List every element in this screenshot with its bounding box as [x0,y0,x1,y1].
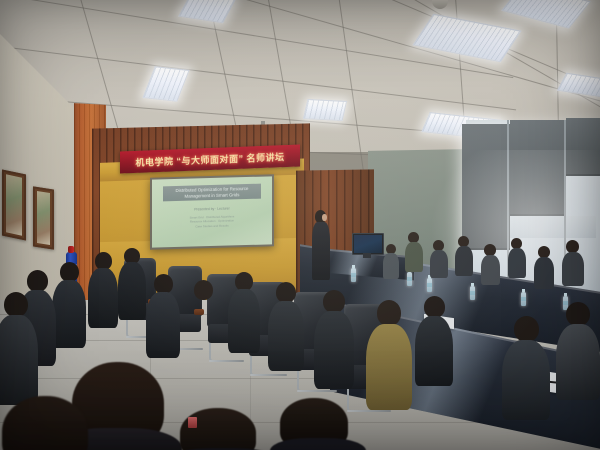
seated-attendee [268,282,304,370]
ceiling-light-panel [412,14,521,63]
seated-attendee [430,240,448,276]
seated-attendee [502,316,550,416]
desktop-monitor [352,233,384,255]
seated-attendee [534,246,554,286]
seated-attendee [118,248,146,318]
roller-blind-1[interactable] [462,124,510,250]
slide-title: Distributed Optimization for Resource Ma… [163,186,261,200]
seated-attendee [88,252,118,326]
seated-attendee [228,272,260,352]
water-bottle [407,272,412,286]
standing-presenter [310,210,332,280]
slide-body-text: Smart Grid · Distributed Algorithms Reso… [171,214,253,229]
seated-attendee [405,232,423,270]
seated-attendee [0,292,38,402]
projection-screen: Distributed Optimization for Resource Ma… [150,174,274,249]
roller-blind-3[interactable] [566,118,600,176]
seated-attendee [556,302,600,398]
presenter-face [322,214,327,221]
lecture-hall-photo: 机电学院 “与大师面对面” 名师讲坛 Distributed Optimizat… [0,0,600,450]
seated-attendee [481,244,500,284]
seated-attendee [186,280,220,364]
roller-blind-2[interactable] [510,120,566,216]
smoke-detector-icon [432,0,448,9]
foreground-attendee [168,408,278,450]
seated-attendee [455,236,473,274]
ceiling-light-panel [303,99,347,121]
water-bottle [521,292,526,306]
water-bottle [470,286,475,300]
seated-attendee [508,238,526,276]
framed-artwork-1 [2,169,26,240]
foreground-attendee [270,398,366,450]
floor-object [188,417,197,428]
slide-subtitle: Presented by · Lecturer [166,205,257,212]
seated-attendee [415,296,453,382]
ceiling-light-panel [142,66,189,102]
water-bottle [351,268,356,282]
foreground-attendee [0,396,108,450]
ceiling-light-panel [557,73,600,98]
seated-attendee [146,274,180,356]
seated-attendee [366,300,412,408]
slide-title-bar: Distributed Optimization for Resource Ma… [163,184,261,202]
projection-screen-surface: Distributed Optimization for Resource Ma… [152,176,272,247]
seated-attendee [314,290,354,386]
water-bottle [427,278,432,292]
ceiling-light-panel [501,0,591,29]
seated-attendee [383,244,399,278]
ceiling-light-panel [178,0,236,23]
banner-text: 机电学院 “与大师面对面” 名师讲坛 [135,150,284,169]
seated-attendee [562,240,584,284]
presenter-body [312,222,330,280]
seated-attendee [52,262,86,346]
framed-artwork-2 [33,186,54,249]
monitor-stand [363,253,371,258]
